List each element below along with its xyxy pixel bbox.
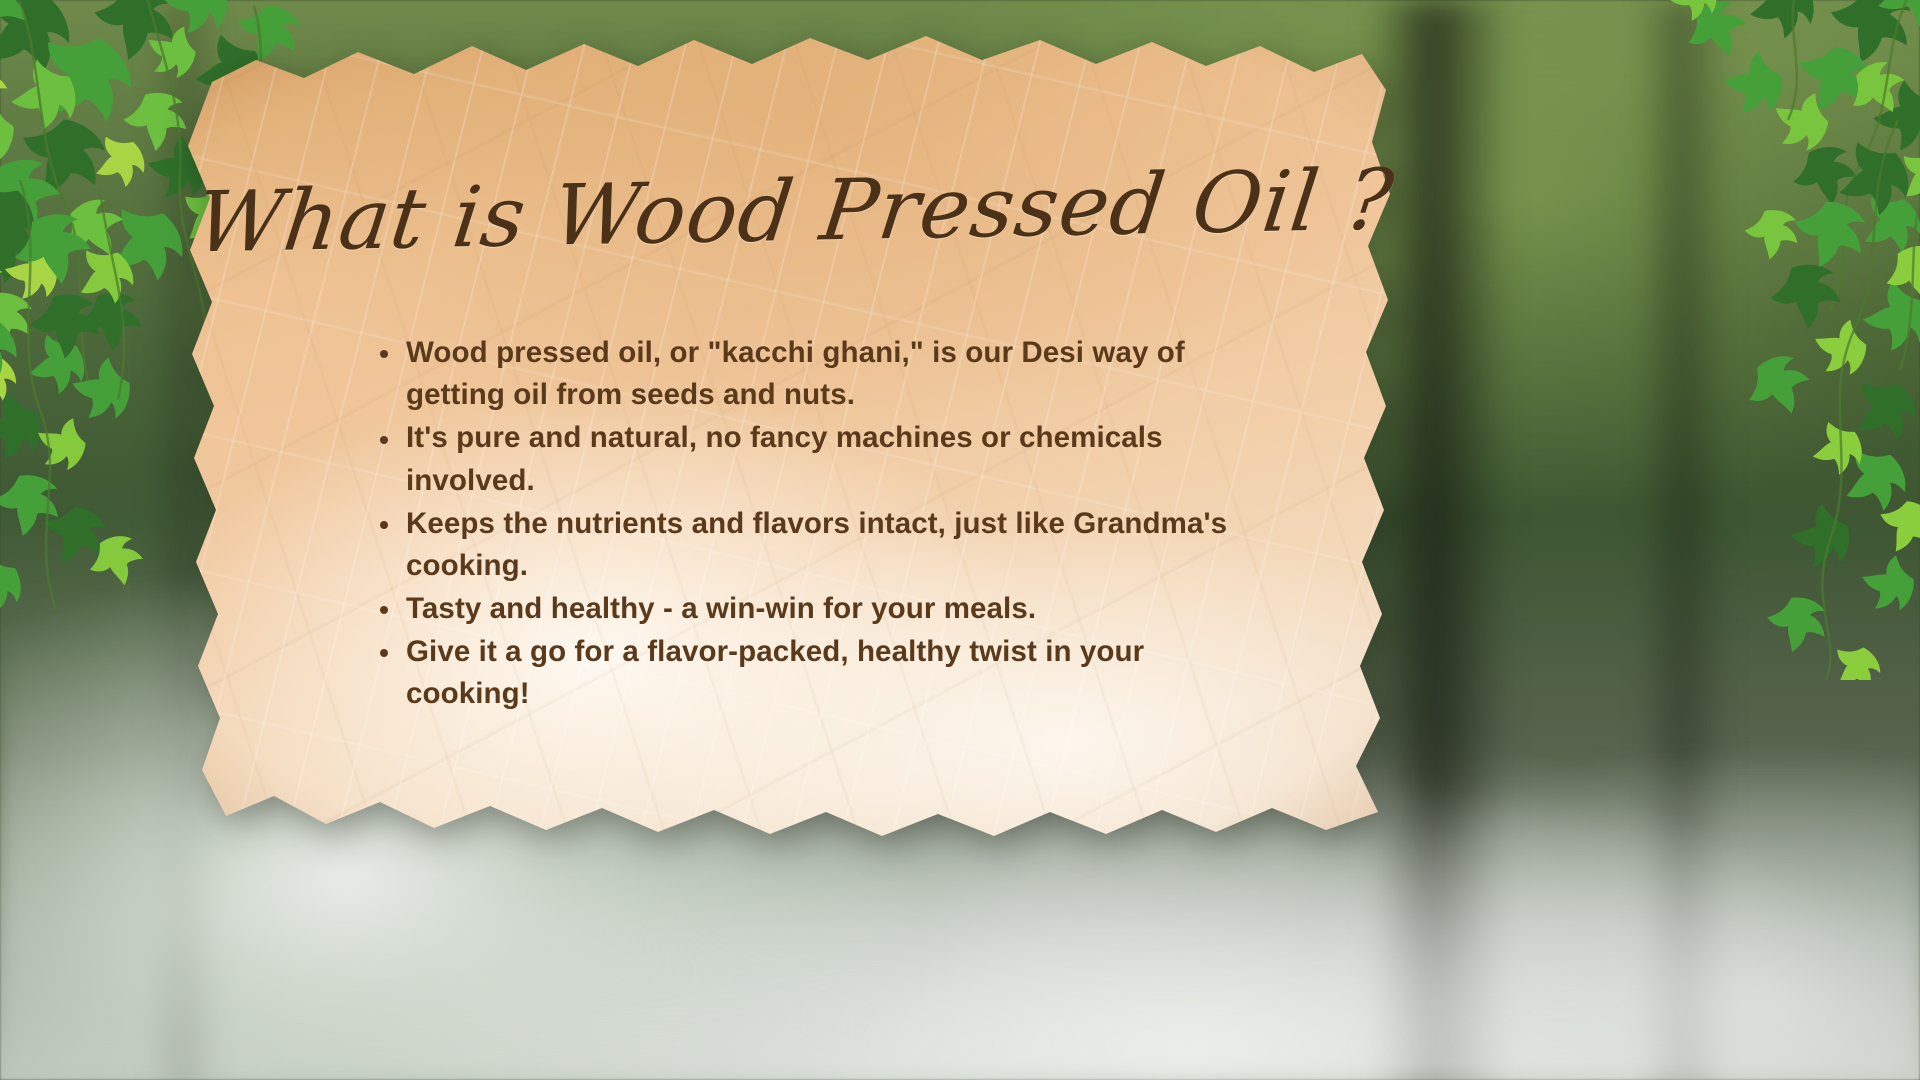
bullet-dot-icon: [380, 436, 388, 444]
bullet-dot-icon: [380, 649, 388, 657]
list-item: Give it a go for a flavor-packed, health…: [372, 631, 1262, 715]
paper-content: What is Wood Pressed Oil ? Wood pressed …: [186, 30, 1404, 840]
list-item-text: Keeps the nutrients and flavors intact, …: [406, 507, 1227, 582]
list-item-text: Give it a go for a flavor-packed, health…: [406, 635, 1144, 710]
benefits-list: Wood pressed oil, or "kacchi ghani," is …: [372, 332, 1262, 717]
list-item: Wood pressed oil, or "kacchi ghani," is …: [372, 332, 1262, 416]
list-item: It's pure and natural, no fancy machines…: [372, 417, 1262, 501]
list-item: Tasty and healthy - a win-win for your m…: [372, 588, 1262, 630]
bullet-dot-icon: [380, 606, 388, 614]
list-item: Keeps the nutrients and flavors intact, …: [372, 503, 1262, 587]
bullet-dot-icon: [380, 521, 388, 529]
list-item-text: Wood pressed oil, or "kacchi ghani," is …: [406, 336, 1185, 411]
list-item-text: It's pure and natural, no fancy machines…: [406, 421, 1163, 496]
paper-panel: What is Wood Pressed Oil ? Wood pressed …: [186, 30, 1404, 840]
page-title: What is Wood Pressed Oil ?: [179, 150, 1412, 271]
list-item-text: Tasty and healthy - a win-win for your m…: [406, 592, 1036, 625]
bullet-dot-icon: [380, 350, 388, 358]
